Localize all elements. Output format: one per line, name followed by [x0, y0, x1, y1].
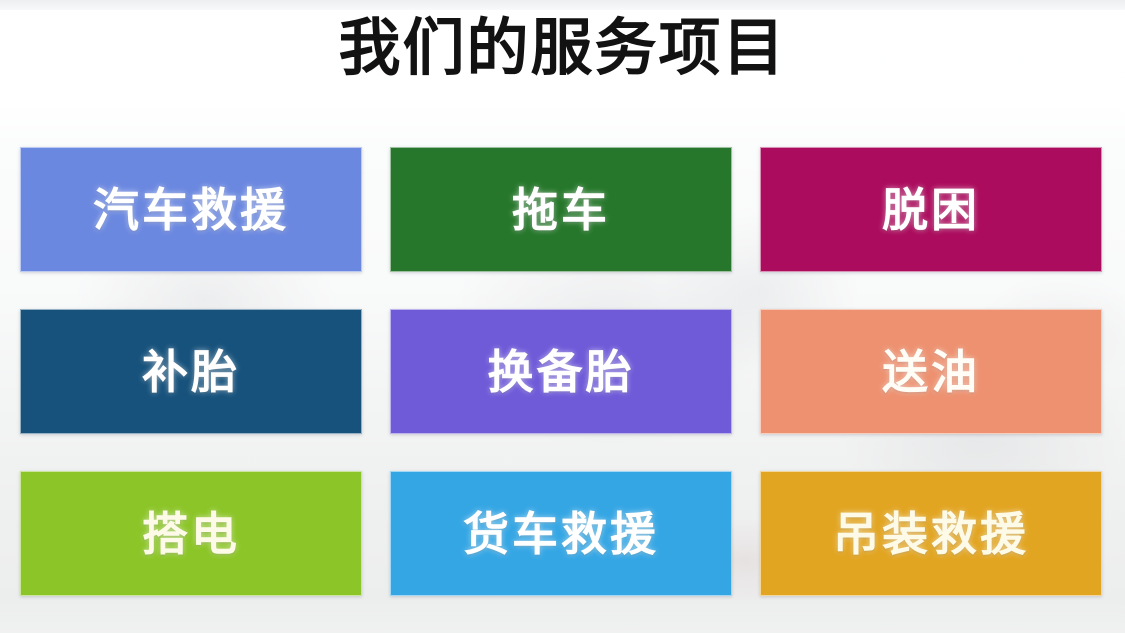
service-tile-spare-tire-change[interactable]: 换备胎 — [390, 309, 732, 434]
service-tile-crane-rescue[interactable]: 吊装救援 — [760, 471, 1102, 596]
service-tile-tire-repair[interactable]: 补胎 — [20, 309, 362, 434]
service-tile-label: 汽车救援 — [93, 187, 289, 233]
background-top-strip — [0, 0, 1125, 10]
service-tile-fuel-delivery[interactable]: 送油 — [760, 309, 1102, 434]
page-title-container: 我们的服务项目 — [0, 14, 1125, 82]
service-tile-label: 脱困 — [882, 187, 980, 233]
service-tile-label: 补胎 — [142, 349, 240, 395]
service-tile-extrication[interactable]: 脱困 — [760, 147, 1102, 272]
service-tile-towing[interactable]: 拖车 — [390, 147, 732, 272]
service-tile-label: 送油 — [882, 349, 980, 395]
service-poster: 我们的服务项目 汽车救援 拖车 脱困 补胎 换备胎 送油 搭电 货车救援 吊装救… — [0, 0, 1125, 633]
service-tile-label: 搭电 — [142, 511, 240, 557]
service-tile-jump-start[interactable]: 搭电 — [20, 471, 362, 596]
service-tile-label: 拖车 — [512, 187, 610, 233]
service-tile-label: 吊装救援 — [833, 511, 1029, 557]
service-tile-label: 换备胎 — [488, 349, 635, 395]
service-tile-label: 货车救援 — [463, 511, 659, 557]
service-tile-truck-rescue[interactable]: 货车救援 — [390, 471, 732, 596]
service-tile-car-rescue[interactable]: 汽车救援 — [20, 147, 362, 272]
service-grid: 汽车救援 拖车 脱困 补胎 换备胎 送油 搭电 货车救援 吊装救援 — [20, 147, 1102, 597]
page-title: 我们的服务项目 — [338, 14, 786, 82]
